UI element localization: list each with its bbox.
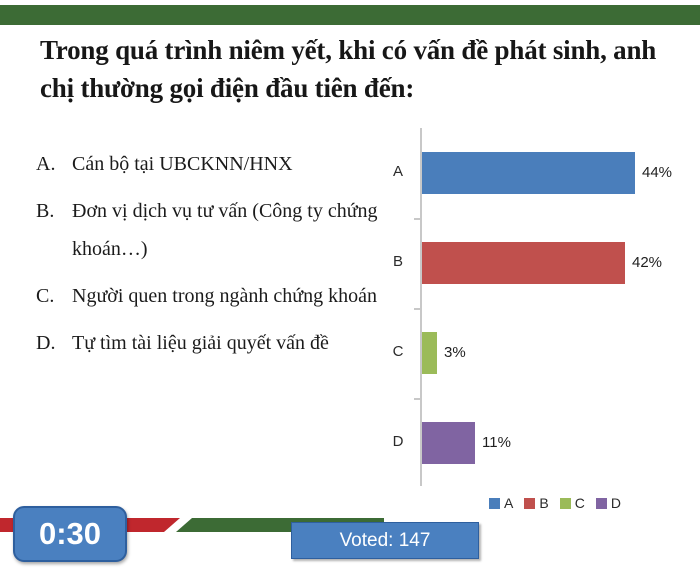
option-a-text: Cán bộ tại UBCKNN/HNX: [72, 145, 293, 183]
option-d-letter: D.: [36, 324, 72, 362]
bar-row-d: D 11%: [385, 420, 685, 466]
option-a-letter: A.: [36, 145, 72, 183]
bar-category-b: B: [385, 253, 411, 270]
bar-label-a: 44%: [642, 164, 672, 181]
bar-label-c: 3%: [444, 344, 466, 361]
answer-options-list: A. Cán bộ tại UBCKNN/HNX B. Đơn vị dịch …: [36, 145, 396, 371]
top-decoration-band: [0, 5, 700, 25]
bar-c: [422, 332, 437, 374]
question-title: Trong quá trình niêm yết, khi có vấn đề …: [40, 31, 680, 107]
option-c-text: Người quen trong ngành chứng khoán: [72, 277, 377, 315]
bar-category-d: D: [385, 433, 411, 450]
legend-item-a: A: [489, 498, 513, 509]
legend-item-c: C: [560, 498, 585, 509]
chart-legend: A B C D: [489, 498, 621, 509]
legend-swatch-a-icon: [489, 498, 500, 509]
vote-count-badge: Voted: 147: [291, 522, 479, 559]
bar-label-d: 11%: [482, 434, 511, 451]
bar-d: [422, 422, 475, 464]
option-d: D. Tự tìm tài liệu giải quyết vấn đề: [36, 324, 396, 362]
legend-swatch-c-icon: [560, 498, 571, 509]
bar-row-a: A 44%: [385, 150, 685, 196]
legend-label-b: B: [539, 498, 548, 509]
legend-label-d: D: [611, 498, 621, 509]
axis-tick-1: [414, 218, 420, 220]
bar-b: [422, 242, 625, 284]
option-b-letter: B.: [36, 192, 72, 230]
option-c: C. Người quen trong ngành chứng khoán: [36, 277, 396, 315]
bar-category-c: C: [385, 343, 411, 360]
legend-label-a: A: [504, 498, 513, 509]
legend-swatch-d-icon: [596, 498, 607, 509]
results-bar-chart: A 44% B 42% C 3% D 11%: [385, 122, 685, 492]
option-b: B. Đơn vị dịch vụ tư vấn (Công ty chứng …: [36, 192, 396, 268]
bar-row-c: C 3%: [385, 330, 685, 376]
option-c-letter: C.: [36, 277, 72, 315]
legend-item-d: D: [596, 498, 621, 509]
countdown-timer-value: 0:30: [39, 516, 101, 552]
legend-label-c: C: [575, 498, 585, 509]
axis-tick-2: [414, 308, 420, 310]
option-d-text: Tự tìm tài liệu giải quyết vấn đề: [72, 324, 329, 362]
bar-label-b: 42%: [632, 254, 662, 271]
option-a: A. Cán bộ tại UBCKNN/HNX: [36, 145, 396, 183]
bar-row-b: B 42%: [385, 240, 685, 286]
bar-a: [422, 152, 635, 194]
axis-tick-3: [414, 398, 420, 400]
legend-item-b: B: [524, 498, 548, 509]
countdown-timer: 0:30: [13, 506, 127, 562]
vote-count-value: Voted: 147: [340, 530, 431, 552]
bar-category-a: A: [385, 163, 411, 180]
legend-swatch-b-icon: [524, 498, 535, 509]
option-b-text: Đơn vị dịch vụ tư vấn (Công ty chứng kho…: [72, 192, 396, 268]
